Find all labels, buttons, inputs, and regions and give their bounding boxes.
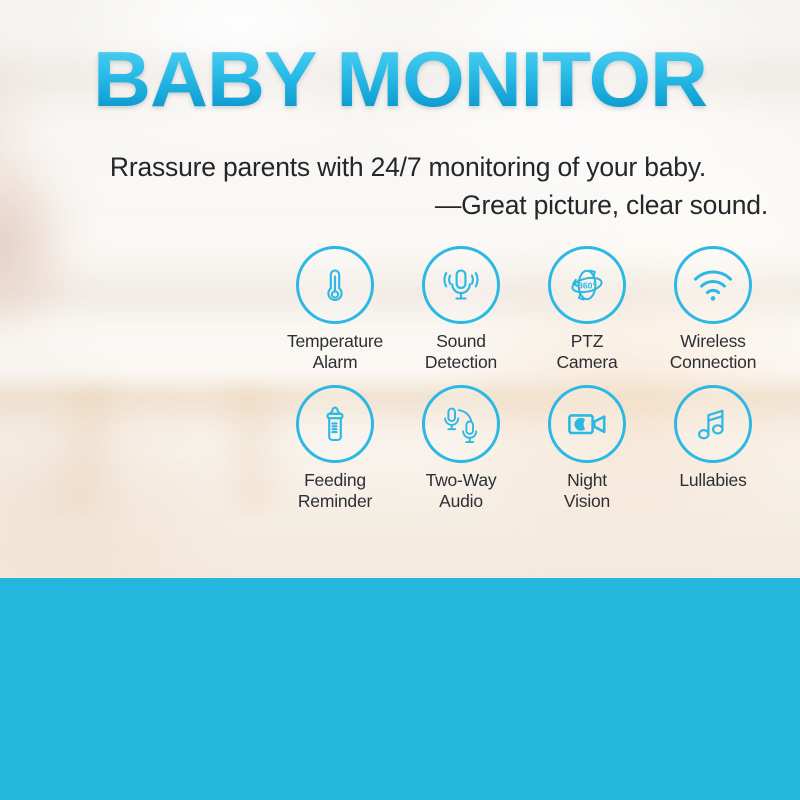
feature-icon-circle bbox=[296, 385, 374, 463]
feature-wireless-connection[interactable]: Wireless Connection bbox=[650, 246, 776, 372]
baby-monitor-banner: BABY MONITOR Rrassure parents with 24/7 … bbox=[0, 0, 800, 800]
feature-label: Two-Way Audio bbox=[426, 470, 497, 511]
music-note-icon bbox=[692, 402, 734, 446]
feature-label: Wireless Connection bbox=[670, 331, 757, 372]
subtitle-line-2: —Great picture, clear sound. bbox=[40, 186, 776, 224]
feature-label: PTZ Camera bbox=[556, 331, 617, 372]
feature-label: Temperature Alarm bbox=[287, 331, 383, 372]
feature-label: Sound Detection bbox=[425, 331, 497, 372]
thermometer-icon bbox=[313, 263, 357, 307]
feature-label: Night Vision bbox=[564, 470, 610, 511]
feature-label: Lullabies bbox=[679, 470, 746, 491]
feature-icon-circle bbox=[422, 246, 500, 324]
two-microphones-icon bbox=[437, 401, 485, 447]
feature-row-2: Feeding Reminder bbox=[272, 385, 776, 511]
wifi-icon bbox=[689, 265, 737, 305]
page-title: BABY MONITOR bbox=[0, 36, 800, 122]
feature-ptz-camera[interactable]: 360° PTZ Camera bbox=[524, 246, 650, 372]
feature-temperature-alarm[interactable]: Temperature Alarm bbox=[272, 246, 398, 372]
feature-feeding-reminder[interactable]: Feeding Reminder bbox=[272, 385, 398, 511]
feature-two-way-audio[interactable]: Two-Way Audio bbox=[398, 385, 524, 511]
feature-icon-circle bbox=[674, 385, 752, 463]
rotate-360-icon: 360° bbox=[563, 262, 611, 308]
subtitle: Rrassure parents with 24/7 monitoring of… bbox=[40, 148, 776, 224]
feature-icon-circle bbox=[296, 246, 374, 324]
subtitle-line-1: Rrassure parents with 24/7 monitoring of… bbox=[40, 148, 776, 186]
feature-icon-circle bbox=[422, 385, 500, 463]
night-vision-camera-icon bbox=[563, 404, 611, 444]
feature-icon-circle bbox=[548, 385, 626, 463]
feature-grid: Temperature Alarm bbox=[272, 246, 776, 511]
feature-icon-circle: 360° bbox=[548, 246, 626, 324]
feature-sound-detection[interactable]: Sound Detection bbox=[398, 246, 524, 372]
feature-row-1: Temperature Alarm bbox=[272, 246, 776, 372]
feature-night-vision[interactable]: Night Vision bbox=[524, 385, 650, 511]
bottom-color-band bbox=[0, 578, 800, 800]
feature-lullabies[interactable]: Lullabies bbox=[650, 385, 776, 511]
baby-bottle-icon bbox=[313, 402, 357, 446]
feature-label: Feeding Reminder bbox=[298, 470, 372, 511]
svg-text:360°: 360° bbox=[578, 280, 596, 290]
microphone-icon bbox=[438, 262, 484, 308]
feature-icon-circle bbox=[674, 246, 752, 324]
